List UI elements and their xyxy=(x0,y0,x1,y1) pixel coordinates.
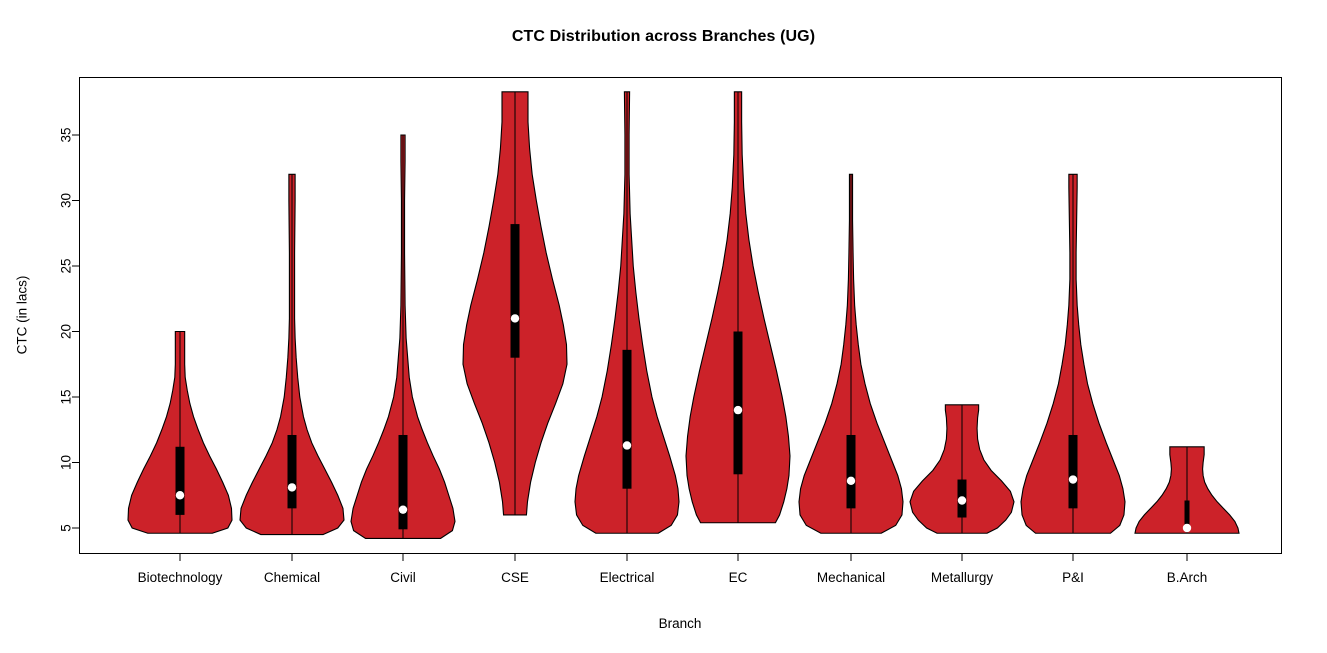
x-axis-tick-label-biotechnology: Biotechnology xyxy=(138,570,223,585)
median-marker xyxy=(511,314,519,322)
x-axis-tick-label-mechanical: Mechanical xyxy=(817,570,885,585)
x-axis-tick-label-b-arch: B.Arch xyxy=(1167,570,1208,585)
violin-biotechnology xyxy=(128,332,232,534)
median-marker xyxy=(623,441,631,449)
x-axis-tick-label-electrical: Electrical xyxy=(600,570,655,585)
violin-b-arch xyxy=(1135,447,1239,533)
violin-ec xyxy=(686,92,790,523)
iqr-box xyxy=(176,447,185,515)
median-marker xyxy=(1183,524,1191,532)
violin-mechanical xyxy=(799,174,903,533)
y-axis-tick-label: 5 xyxy=(59,524,74,532)
iqr-box xyxy=(288,435,297,508)
x-axis-tick-label-ec: EC xyxy=(729,570,748,585)
violin-civil xyxy=(351,135,455,538)
x-axis-tick-label-cse: CSE xyxy=(501,570,529,585)
iqr-box xyxy=(511,224,520,358)
violin-metallurgy xyxy=(910,405,1014,533)
median-marker xyxy=(847,477,855,485)
iqr-box xyxy=(399,435,408,529)
violin-electrical xyxy=(575,92,679,533)
x-axis-tick-label-civil: Civil xyxy=(390,570,416,585)
y-axis-tick-label: 35 xyxy=(59,127,74,142)
x-axis-title: Branch xyxy=(659,616,702,631)
y-axis-tick-label: 25 xyxy=(59,258,74,273)
violins-layer xyxy=(128,92,1239,539)
violin-p-i xyxy=(1021,174,1125,533)
x-axis-tick-label-chemical: Chemical xyxy=(264,570,320,585)
y-axis-tick-label: 15 xyxy=(59,389,74,404)
median-marker xyxy=(958,496,966,504)
iqr-box xyxy=(623,350,632,489)
median-marker xyxy=(734,406,742,414)
iqr-box xyxy=(734,332,743,475)
plot-canvas: 5101520253035CTC (in lacs)BiotechnologyC… xyxy=(0,0,1327,653)
y-axis-tick-label: 20 xyxy=(59,324,74,339)
iqr-box xyxy=(847,435,856,508)
median-marker xyxy=(176,491,184,499)
x-axis-tick-label-p-i: P&I xyxy=(1062,570,1084,585)
violin-chemical xyxy=(240,174,344,534)
median-marker xyxy=(288,483,296,491)
violin-cse xyxy=(463,92,567,515)
y-axis-tick-label: 10 xyxy=(59,455,74,470)
axes-layer: 5101520253035CTC (in lacs)BiotechnologyC… xyxy=(15,78,1282,632)
y-axis-title: CTC (in lacs) xyxy=(15,276,30,355)
iqr-box xyxy=(1069,435,1078,508)
x-axis-tick-label-metallurgy: Metallurgy xyxy=(931,570,994,585)
median-marker xyxy=(399,505,407,513)
y-axis-tick-label: 30 xyxy=(59,193,74,208)
median-marker xyxy=(1069,475,1077,483)
violin-plot-figure: CTC Distribution across Branches (UG) 51… xyxy=(0,0,1327,653)
